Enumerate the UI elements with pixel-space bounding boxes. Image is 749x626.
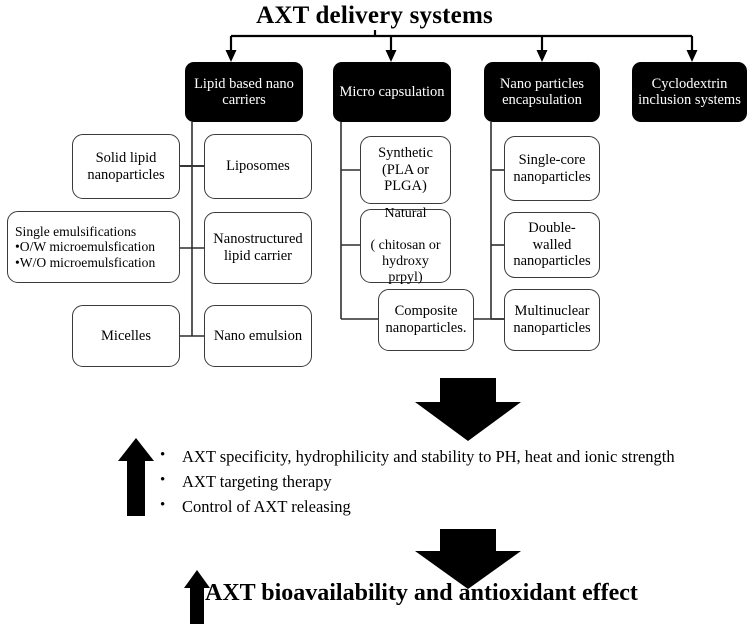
flowchart-canvas: AXT delivery systems [0, 0, 749, 626]
node-single-emulsifications[interactable]: Single emulsifications•O/W microemulsfic… [7, 211, 180, 283]
node-nano-emulsion[interactable]: Nano emulsion [204, 305, 312, 367]
bullet-icon: • [160, 494, 182, 517]
benefits-list: • AXT specificity, hydrophilicity and st… [160, 444, 745, 519]
page-title: AXT delivery systems [0, 2, 749, 30]
node-label: Nano particles encapsulation [488, 76, 596, 108]
node-micro-capsulation[interactable]: Micro capsulation [333, 62, 451, 122]
list-item: • Control of AXT releasing [160, 494, 745, 519]
node-composite-nanoparticles[interactable]: Composite nanoparticles. [378, 289, 474, 351]
node-nano-particles-encapsulation[interactable]: Nano particles encapsulation [484, 62, 600, 122]
node-label: Multinuclear nanoparticles [509, 303, 595, 336]
outcome-title: AXT bioavailability and antioxidant effe… [205, 580, 749, 607]
node-single-core-nanoparticles[interactable]: Single-core nanoparticles [504, 136, 600, 201]
node-micelles[interactable]: Micelles [72, 305, 180, 367]
node-label: Nano emulsion [214, 328, 302, 345]
bus-arrowheads [226, 50, 698, 62]
list-item: • AXT specificity, hydrophilicity and st… [160, 444, 745, 469]
node-liposomes[interactable]: Liposomes [204, 134, 312, 199]
node-double-walled-nanoparticles[interactable]: Double-walled nanoparticles [504, 212, 600, 278]
up-arrow-benefits [118, 438, 154, 516]
node-label: Cyclodextrin inclusion systems [636, 76, 743, 108]
bullet-icon: • [160, 469, 182, 492]
nano-spine [474, 122, 504, 319]
node-nanostructured-lipid-carrier[interactable]: Nanostructured lipid carrier [204, 212, 312, 284]
node-solid-lipid-nanoparticles[interactable]: Solid lipid nanoparticles [72, 134, 180, 199]
node-label: Liposomes [226, 158, 290, 175]
benefit-text: Control of AXT releasing [182, 494, 745, 519]
node-label: Lipid based nano carriers [189, 76, 299, 108]
node-multinuclear-nanoparticles[interactable]: Multinuclear nanoparticles [504, 289, 600, 351]
bullet-icon: • [160, 444, 182, 467]
node-label: Micro capsulation [339, 84, 444, 100]
node-label: Double-walled nanoparticles [509, 220, 595, 270]
down-arrow-top [415, 378, 521, 441]
list-item: • AXT targeting therapy [160, 469, 745, 494]
benefit-text: AXT specificity, hydrophilicity and stab… [182, 444, 745, 469]
node-label: Synthetic(PLA orPLGA) [378, 145, 433, 195]
node-synthetic-pla-plga[interactable]: Synthetic(PLA orPLGA) [360, 136, 451, 204]
node-label: Nanostructured lipid carrier [209, 231, 307, 264]
node-natural-chitosan[interactable]: Natural( chitosan orhydroxy prpyl) [360, 209, 451, 283]
node-label: Natural( chitosan orhydroxy prpyl) [365, 206, 446, 286]
node-lipid-based-nano-carriers[interactable]: Lipid based nano carriers [185, 62, 303, 122]
node-label: Single emulsifications•O/W microemulsfic… [15, 224, 155, 270]
node-label: Solid lipid nanoparticles [77, 150, 175, 183]
node-label: Micelles [101, 328, 151, 345]
node-label: Single-core nanoparticles [509, 152, 595, 185]
node-cyclodextrin-inclusion-systems[interactable]: Cyclodextrin inclusion systems [632, 62, 747, 122]
node-label: Composite nanoparticles. [383, 303, 469, 336]
benefit-text: AXT targeting therapy [182, 469, 745, 494]
